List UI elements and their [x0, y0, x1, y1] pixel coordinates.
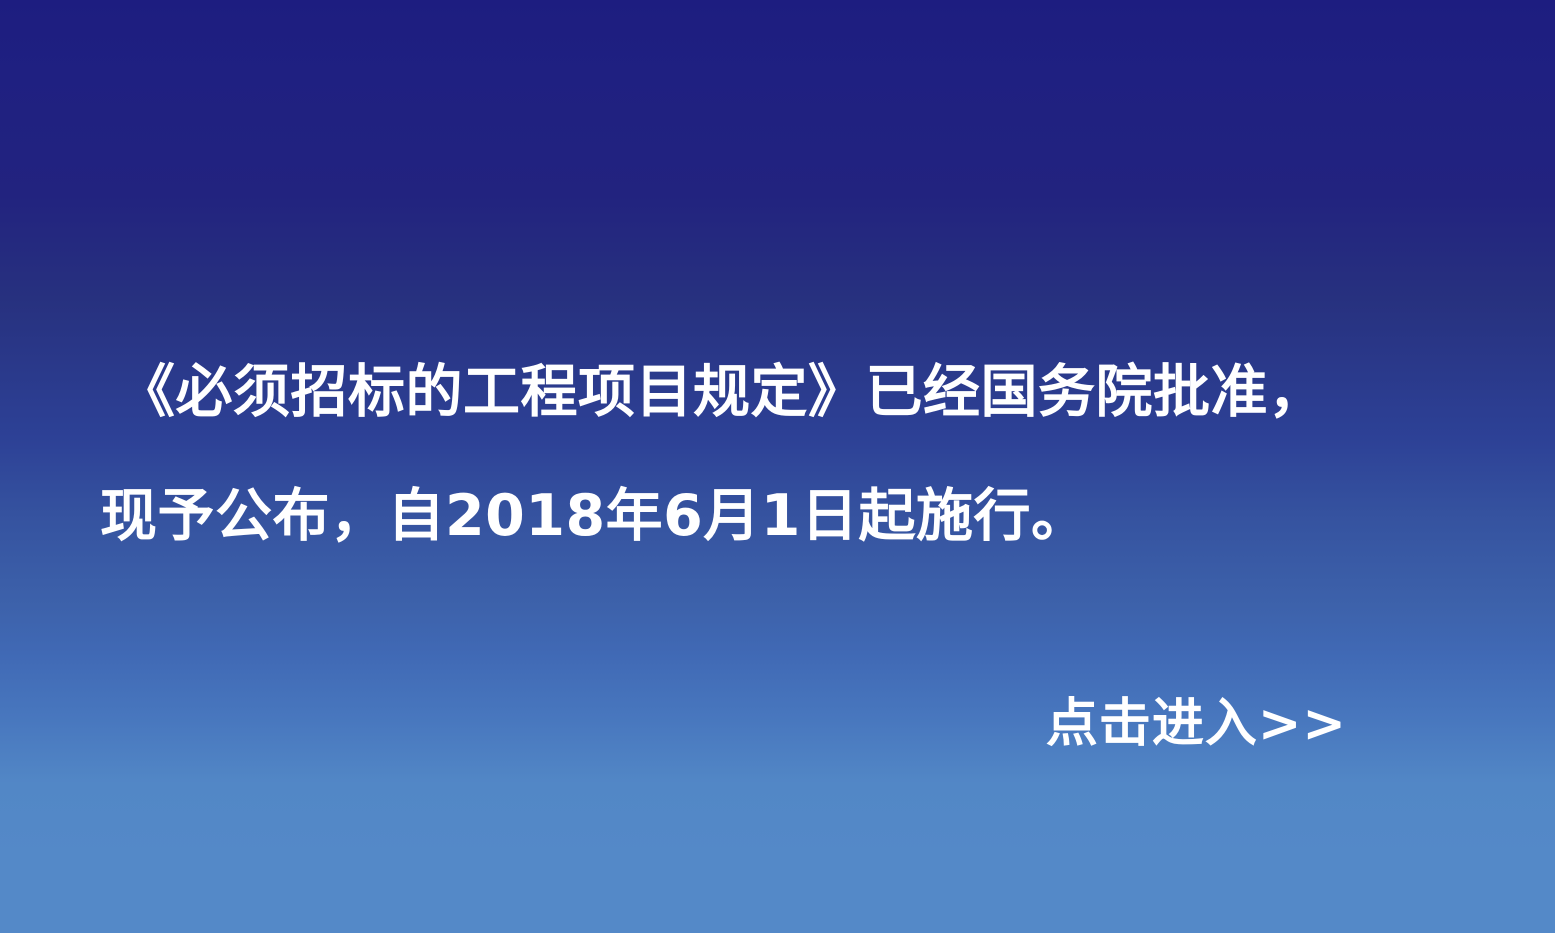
announcement-banner: 《必须招标的工程项目规定》已经国务院批准， 现予公布，自2018年6月1日起施行…	[0, 0, 1555, 933]
headline-line-2: 现予公布，自2018年6月1日起施行。	[0, 454, 1555, 578]
enter-link[interactable]: 点击进入>>	[1046, 688, 1347, 760]
headline-line-1: 《必须招标的工程项目规定》已经国务院批准，	[0, 330, 1555, 454]
headline-block: 《必须招标的工程项目规定》已经国务院批准， 现予公布，自2018年6月1日起施行…	[0, 330, 1555, 578]
cta-row: 点击进入>>	[0, 688, 1555, 760]
